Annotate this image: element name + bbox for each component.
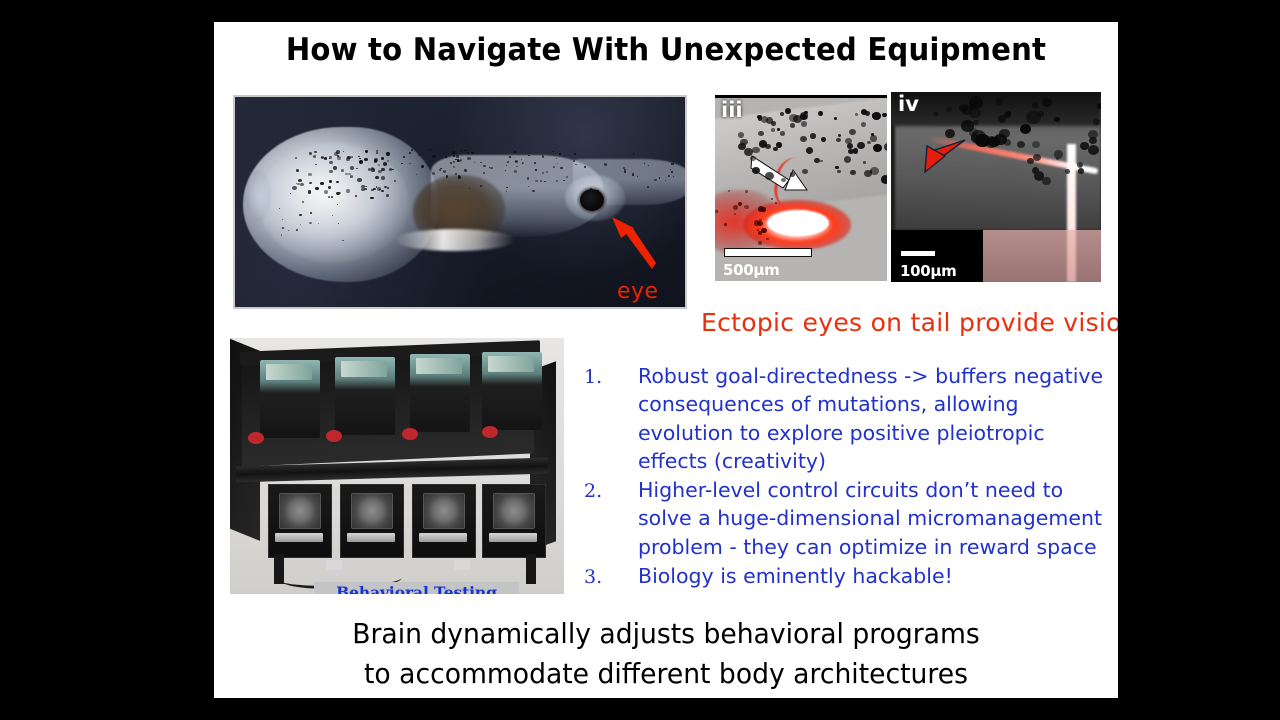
micrograph-panel-iii: iii 500µm bbox=[715, 95, 887, 281]
device-module bbox=[410, 354, 470, 432]
inset-panel-overlay bbox=[983, 230, 1101, 282]
micrograph-row: iii 500µm iv 100µm bbox=[715, 92, 1101, 282]
list-item-text: Biology is eminently hackable! bbox=[638, 562, 1104, 590]
device-latch bbox=[347, 533, 395, 542]
scale-bar-label-iv: 100µm bbox=[900, 262, 956, 280]
list-item-text: Robust goal-directedness -> buffers nega… bbox=[638, 362, 1104, 475]
list-item-number: 3. bbox=[584, 562, 638, 591]
page-title: How to Navigate With Unexpected Equipmen… bbox=[241, 32, 1091, 68]
device-leg bbox=[526, 554, 536, 584]
tadpole-native-eye bbox=[245, 171, 271, 221]
ectopic-eye bbox=[580, 189, 604, 211]
device-chamber bbox=[482, 484, 546, 558]
device-chamber bbox=[340, 484, 404, 558]
device-chamber bbox=[268, 484, 332, 558]
scale-bar-iv bbox=[901, 251, 935, 256]
fan-icon bbox=[279, 493, 321, 529]
device-module bbox=[260, 360, 320, 438]
device-caption-label: Behavioral Testing Device bbox=[314, 582, 519, 594]
fan-icon bbox=[423, 493, 465, 529]
panel-label-iii: iii bbox=[721, 100, 743, 121]
device-latch bbox=[275, 533, 323, 542]
eye-annotation-label: eye bbox=[617, 279, 659, 304]
tadpole-belly-highlight bbox=[395, 229, 515, 251]
red-arrow-icon bbox=[919, 138, 967, 178]
device-foot bbox=[454, 560, 470, 570]
scale-bar-iii bbox=[724, 248, 812, 257]
device-clamp bbox=[248, 432, 264, 444]
fan-icon bbox=[351, 493, 393, 529]
dark-pigment-band bbox=[891, 92, 1101, 126]
ectopic-eyes-caption: Ectopic eyes on tail provide vision! bbox=[701, 308, 1118, 337]
tadpole-micrograph: eye bbox=[233, 95, 687, 309]
device-clamp bbox=[326, 430, 342, 442]
panel-label-iv: iv bbox=[898, 94, 919, 115]
list-item-number: 2. bbox=[584, 476, 638, 505]
behavioral-testing-device-photo: Behavioral Testing Device bbox=[230, 338, 564, 594]
list-item: 1. Robust goal-directedness -> buffers n… bbox=[584, 362, 1104, 475]
summary-caption-line-1: Brain dynamically adjusts behavioral pro… bbox=[237, 614, 1096, 654]
device-latch bbox=[489, 533, 537, 542]
red-arrow-icon bbox=[610, 215, 656, 273]
device-module bbox=[482, 352, 542, 430]
fan-icon bbox=[493, 493, 535, 529]
device-foot bbox=[326, 560, 342, 570]
device-latch bbox=[419, 533, 467, 542]
fluorescence-core bbox=[767, 210, 829, 236]
device-clamp bbox=[402, 428, 418, 440]
device-chamber bbox=[412, 484, 476, 558]
summary-caption: Brain dynamically adjusts behavioral pro… bbox=[237, 614, 1096, 694]
device-clamp bbox=[482, 426, 498, 438]
list-item: 3. Biology is eminently hackable! bbox=[584, 562, 1104, 591]
list-item-number: 1. bbox=[584, 362, 638, 391]
screen: How to Navigate With Unexpected Equipmen… bbox=[0, 0, 1280, 720]
list-item-text: Higher-level control circuits don’t need… bbox=[638, 476, 1104, 561]
summary-caption-line-2: to accommodate different body architectu… bbox=[237, 654, 1096, 694]
slide-canvas: How to Navigate With Unexpected Equipmen… bbox=[214, 22, 1118, 698]
list-item: 2. Higher-level control circuits don’t n… bbox=[584, 476, 1104, 561]
scale-bar-label-iii: 500µm bbox=[723, 261, 779, 279]
micrograph-panel-iv: iv 100µm bbox=[891, 92, 1101, 282]
device-module bbox=[335, 357, 395, 435]
key-points-list: 1. Robust goal-directedness -> buffers n… bbox=[584, 362, 1104, 592]
